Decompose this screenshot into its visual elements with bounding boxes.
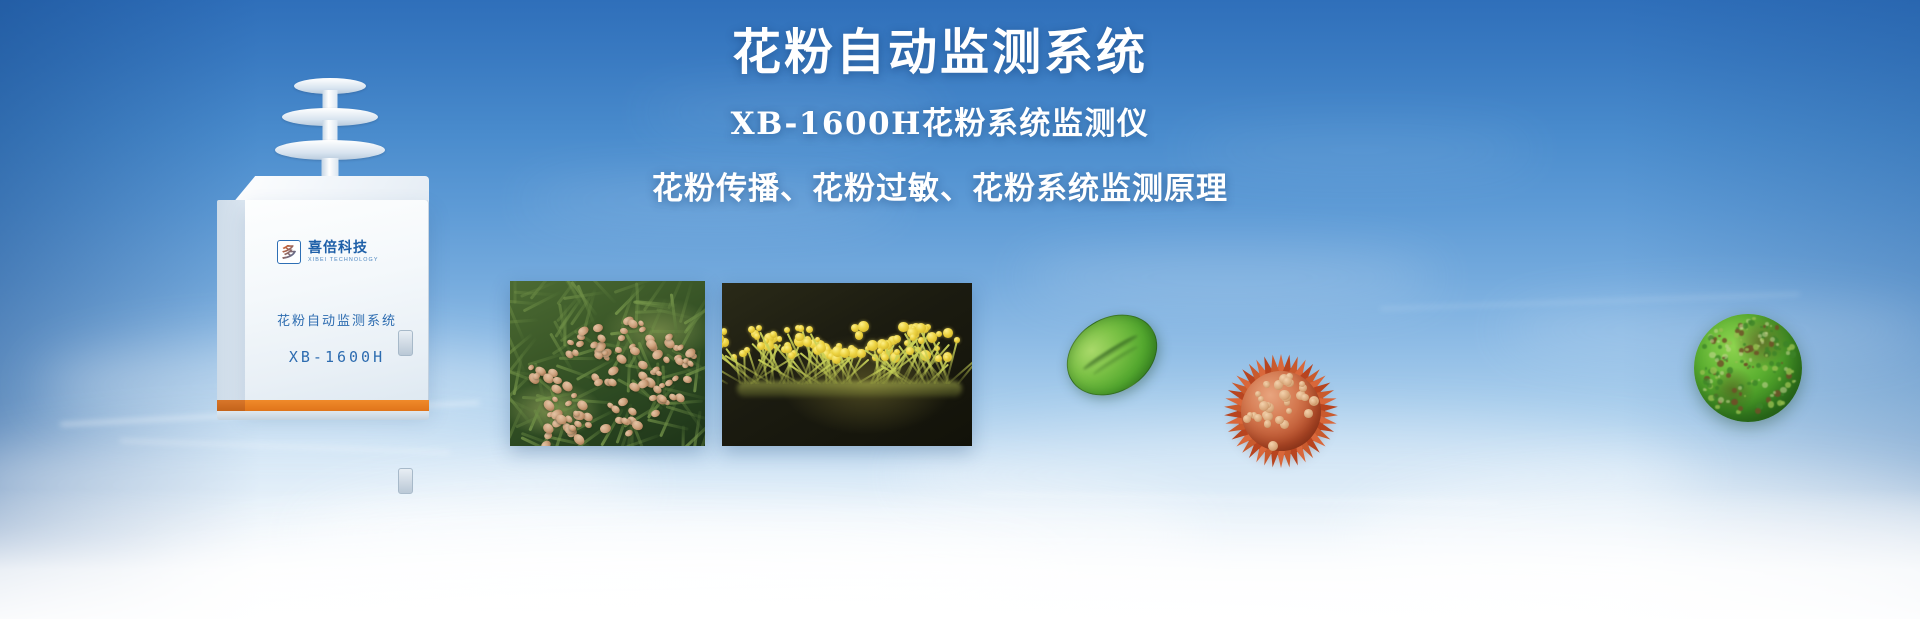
conifer-needle [681, 426, 685, 446]
pollen-granule [1760, 326, 1763, 329]
pollen-granule [1775, 325, 1779, 329]
pollen-granule [1726, 360, 1728, 362]
pollen-granule [1726, 347, 1731, 352]
pollen-granule [1752, 366, 1754, 368]
pollen-granule [1714, 329, 1718, 333]
pollen-surface-bump [1259, 401, 1269, 411]
pollen-granule [1776, 343, 1779, 346]
anther-pollen-sac [722, 328, 727, 335]
pollen-granule [1735, 361, 1738, 364]
anther-pollen-sac [858, 321, 869, 332]
pollen-cone [575, 340, 585, 349]
pollen-granule [1762, 365, 1769, 372]
pollen-granule [1766, 326, 1769, 329]
pollen-granule [1777, 400, 1783, 406]
device-brand-lockup: 多 喜倍科技 XIBEI TECHNOLOGY [277, 240, 379, 264]
pollen-granule [1715, 386, 1719, 390]
pollen-granule [1794, 380, 1796, 382]
pollen-granule [1715, 405, 1719, 409]
anther-pollen-sac [943, 328, 953, 338]
xibei-logo-glyph: 多 [281, 245, 296, 260]
pollen-granule [1718, 335, 1721, 338]
pollen-granule [1702, 344, 1707, 349]
cabinet-latch-lower [398, 468, 413, 494]
catkin-photo-canvas [722, 283, 972, 446]
pollen-granule [1765, 347, 1769, 351]
pollen-granule [1727, 341, 1731, 345]
pollen-granule [1770, 394, 1773, 397]
cabinet-front-panel: 多 喜倍科技 XIBEI TECHNOLOGY 花粉自动监测系统 XB-1600… [245, 200, 429, 408]
pollen-granule [1735, 329, 1739, 333]
pollen-granule [1778, 348, 1781, 351]
pollen-grain-spiky-orange [1226, 356, 1336, 466]
pollen-granule [1717, 340, 1720, 343]
pollen-granule [1773, 371, 1775, 373]
pollen-granule [1790, 351, 1795, 356]
pollen-granule [1755, 408, 1761, 414]
pollen-granule [1747, 382, 1751, 386]
pollen-granule [1749, 358, 1752, 361]
banner-headline: 花粉自动监测系统 [560, 24, 1320, 82]
pollen-granule [1748, 320, 1752, 324]
anther-pollen-sac [894, 349, 900, 355]
pollen-surface-bump [1286, 408, 1292, 414]
pollen-grain-textured-green [1694, 314, 1802, 422]
brand-name-cn: 喜倍科技 [308, 241, 379, 256]
pollen-granule [1700, 370, 1705, 375]
pollen-granule [1738, 406, 1743, 411]
pollen-surface-bump [1301, 394, 1308, 401]
pollen-granule [1753, 344, 1759, 350]
device-product-name: 花粉自动监测系统 [245, 310, 429, 329]
anther-pollen-sac [936, 331, 942, 337]
pollen-cone [683, 375, 693, 383]
pollen-surface-bump [1268, 441, 1278, 451]
pollen-granule [1705, 367, 1708, 370]
anther-pollen-sac [795, 333, 803, 341]
pollen-granule [1789, 344, 1796, 351]
cedar-pollen-cones-photo [510, 281, 705, 446]
pollen-granule [1769, 341, 1774, 346]
brand-name-en: XIBEI TECHNOLOGY [308, 258, 379, 264]
pollen-granule [1726, 373, 1731, 378]
pollen-granule [1785, 382, 1791, 388]
anther-pollen-sac [944, 355, 950, 361]
pollen-granule [1781, 393, 1785, 397]
anther-pollen-sac [867, 340, 878, 351]
pollen-granule [1718, 345, 1722, 349]
banner-tagline: 花粉传播、花粉过敏、花粉系统监测原理 [560, 171, 1320, 208]
pollen-granule [1726, 400, 1729, 403]
pollen-granule [1743, 323, 1749, 329]
anther-pollen-sac [954, 337, 960, 343]
anther-pollen-sac [754, 333, 761, 340]
anther-pollen-sac [744, 347, 750, 353]
pollen-granule [1770, 325, 1772, 327]
pollen-monitoring-banner: 花粉自动监测系统 XB-1600H花粉系统监测仪 花粉传播、花粉过敏、花粉系统监… [0, 0, 1920, 619]
pollen-surface-bump [1243, 415, 1251, 423]
pollen-granule [1739, 352, 1743, 356]
cabinet-latch-upper [398, 330, 413, 356]
catkin-stamens-photo [722, 283, 972, 446]
pollen-surface-bump [1310, 398, 1317, 405]
pollen-granule [1780, 387, 1787, 394]
pollen-granule [1719, 328, 1723, 332]
pollen-cone [606, 364, 619, 377]
pollen-granule [1761, 340, 1764, 343]
pollen-granule [1740, 339, 1743, 342]
pollen-granule [1758, 379, 1760, 381]
pollen-cone [592, 323, 605, 334]
anther-pollen-sac [910, 334, 917, 341]
anther-pollen-sac [935, 355, 942, 362]
anther-pollen-sac [798, 325, 805, 332]
pollen-surface-bump [1304, 409, 1313, 418]
pollen-granule [1778, 377, 1782, 381]
anther-pollen-sac [927, 332, 937, 342]
anther-pollen-sac [748, 326, 755, 333]
pollen-granule [1748, 365, 1751, 368]
pollen-granule [1718, 375, 1720, 377]
pollen-granule [1752, 317, 1756, 321]
intake-head-icon [275, 78, 385, 170]
pollen-granule [1756, 363, 1761, 368]
pollen-granule [1773, 391, 1776, 394]
pollen-granule [1717, 379, 1723, 385]
pollen-cone [650, 408, 661, 418]
pollen-granule [1718, 397, 1724, 403]
intake-disc-lower [275, 140, 385, 160]
pollen-granule [1722, 357, 1724, 359]
xibei-logo-icon: 多 [277, 240, 301, 264]
cabinet-base [217, 411, 429, 420]
anther-pollen-sac [855, 331, 863, 339]
pollen-granule [1754, 351, 1758, 355]
pollen-granule [1768, 401, 1775, 408]
banner-copy-block: 花粉自动监测系统 XB-1600H花粉系统监测仪 花粉传播、花粉过敏、花粉系统监… [560, 24, 1320, 208]
pollen-granule [1770, 330, 1772, 332]
pollen-granule [1740, 360, 1743, 363]
pollen-granule [1781, 362, 1783, 364]
anther-pollen-sac [784, 327, 790, 333]
cedar-photo-canvas [510, 281, 705, 446]
pollen-granule [1762, 332, 1767, 337]
pollen-granule [1744, 363, 1748, 367]
pollen-granule [1744, 395, 1746, 397]
pollen-granule [1772, 351, 1777, 356]
anther-pollen-sac [756, 325, 762, 331]
pollen-granule [1765, 354, 1767, 356]
pollen-cone [671, 375, 679, 383]
pollen-granule [1770, 337, 1775, 342]
pollen-granule [1707, 383, 1711, 387]
anther-pollen-sac [840, 348, 850, 358]
anther-pollen-sac [806, 326, 813, 333]
anther-pollen-sac [898, 322, 908, 332]
conifer-needle [510, 299, 542, 306]
pollen-granule [1758, 334, 1762, 338]
anther-pollen-sac [893, 335, 901, 343]
pollen-granule [1720, 371, 1724, 375]
brand-text-block: 喜倍科技 XIBEI TECHNOLOGY [308, 241, 379, 263]
pollen-surface-bump [1254, 414, 1262, 422]
anther-pollen-sac [916, 323, 926, 333]
banner-subtitle: XB-1600H花粉系统监测仪 [560, 106, 1320, 143]
pollen-granule [1710, 367, 1717, 374]
pollen-granule [1703, 388, 1706, 391]
pollen-granule [1739, 392, 1742, 395]
pollen-granule [1762, 382, 1768, 388]
pollen-granule [1786, 351, 1789, 354]
pollen-granule [1752, 380, 1758, 386]
pollen-granule [1786, 368, 1792, 374]
anther-pollen-sac [777, 336, 782, 341]
accent-stripe-front [245, 400, 429, 411]
pollen-granule [1732, 388, 1737, 393]
device-illustration: 多 喜倍科技 XIBEI TECHNOLOGY 花粉自动监测系统 XB-1600… [195, 78, 465, 428]
